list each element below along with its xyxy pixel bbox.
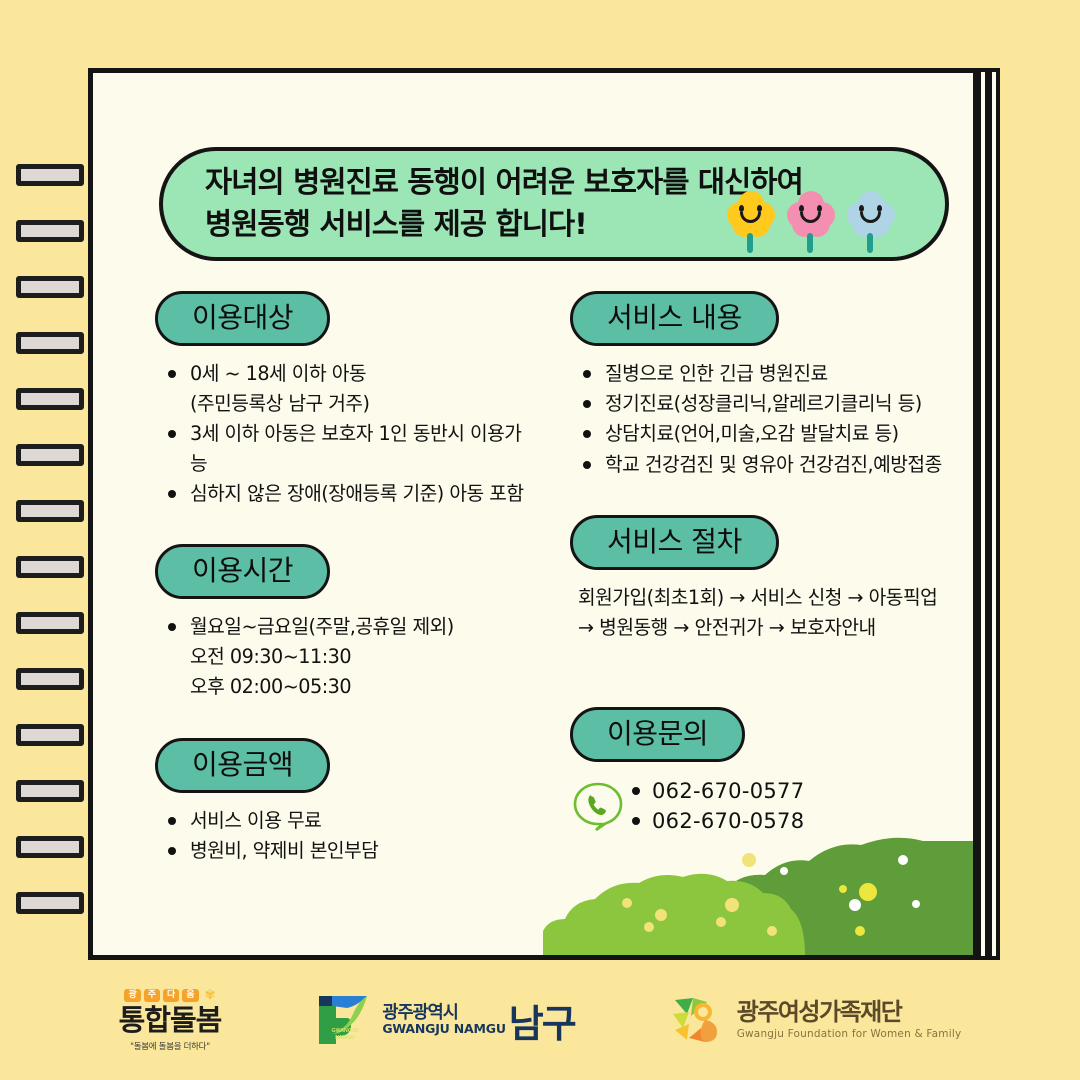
section-title-process: 서비스 절차 <box>570 515 779 570</box>
flower-yellow-icon <box>723 191 779 253</box>
content-columns: 이용대상 0세 ~ 18세 이하 아동 (주민등록상 남구 거주) 3세 이하 … <box>93 291 978 871</box>
section-body-hours: 월요일~금요일(주말,공휴일 제외) 오전 09:30~11:30 오후 02:… <box>155 612 538 702</box>
tag-box: 움 <box>182 989 198 1002</box>
foundation-korean-wordmark: 광주여성가족재단 <box>737 1000 962 1025</box>
notepad-page: 자녀의 병원진료 동행이 어려운 보호자를 대신하여 병원동행 서비스를 제공 … <box>88 68 1000 960</box>
section-title-target: 이용대상 <box>155 291 330 346</box>
page-edge-middle <box>977 68 989 960</box>
section-target: 이용대상 0세 ~ 18세 이하 아동 (주민등록상 남구 거주) 3세 이하 … <box>155 291 538 508</box>
list-item: 질병으로 인한 긴급 병원진료 <box>578 359 978 388</box>
phone-number-list: 062-670-0577 062-670-0578 <box>628 776 804 837</box>
grass-decoration <box>543 835 973 955</box>
notepad-front-page: 자녀의 병원진료 동행이 어려운 보호자를 대신하여 병원동행 서비스를 제공 … <box>88 68 978 960</box>
tonghap-dolbom-logo: 광 주 다 움 ✾ 통합돌봄 "돌봄에 돌봄을 더하다" <box>119 988 222 1052</box>
foundation-english-wordmark: Gwangju Foundation for Women & Family <box>737 1028 962 1040</box>
tag-box: 주 <box>144 989 160 1002</box>
list-item: (주민등록상 남구 거주) <box>163 389 538 418</box>
tonghap-dolbom-slogan: "돌봄에 돌봄을 더하다" <box>130 1040 210 1052</box>
spiral-ring <box>16 556 84 578</box>
list-item: 0세 ~ 18세 이하 아동 <box>163 359 538 388</box>
list-item: 심하지 않은 장애(장애등록 기준) 아동 포함 <box>163 479 538 508</box>
flower-trio <box>723 191 899 253</box>
right-column: 서비스 내용 질병으로 인한 긴급 병원진료 정기진료(성장클리닉,알레르기클리… <box>538 291 978 871</box>
spiral-ring <box>16 612 84 634</box>
gwangju-daum-tagline: 광 주 다 움 ✾ <box>124 988 215 1003</box>
foundation-emblem-icon <box>671 994 729 1046</box>
spiral-ring <box>16 276 84 298</box>
list-item: 정기진료(성장클리닉,알레르기클리닉 등) <box>578 389 978 418</box>
spiral-ring <box>16 444 84 466</box>
spiral-ring <box>16 836 84 858</box>
flower-blue-icon <box>843 191 899 253</box>
namgu-english-label: GWANGJU NAMGU <box>382 1023 505 1036</box>
section-title-service: 서비스 내용 <box>570 291 779 346</box>
phone-icon <box>572 780 624 832</box>
namgu-korean-label: 광주광역시 <box>382 1005 505 1023</box>
spiral-ring <box>16 500 84 522</box>
section-body-service: 질병으로 인한 긴급 병원진료 정기진료(성장클리닉,알레르기클리닉 등) 상담… <box>570 359 978 479</box>
spiral-ring <box>16 892 84 914</box>
section-title-hours: 이용시간 <box>155 544 330 599</box>
gwangju-women-family-foundation-logo: 광주여성가족재단 Gwangju Foundation for Women & … <box>671 994 962 1046</box>
section-fee: 이용금액 서비스 이용 무료 병원비, 약제비 본인부담 <box>155 738 538 865</box>
namgu-emblem-icon: GWANGJU NAMGU <box>317 992 373 1048</box>
spiral-ring <box>16 780 84 802</box>
section-body-process: 회원가입(최초1회) → 서비스 신청 → 아동픽업 → 병원동행 → 안전귀가… <box>570 583 978 643</box>
list-item: 오전 09:30~11:30 <box>163 642 538 671</box>
headline-banner: 자녀의 병원진료 동행이 어려운 보호자를 대신하여 병원동행 서비스를 제공 … <box>159 147 949 261</box>
flower-pink-icon <box>783 191 839 253</box>
headline-text: 자녀의 병원진료 동행이 어려운 보호자를 대신하여 병원동행 서비스를 제공 … <box>163 162 803 246</box>
butterfly-icon: ✾ <box>205 988 216 1003</box>
section-process: 서비스 절차 회원가입(최초1회) → 서비스 신청 → 아동픽업 → 병원동행… <box>570 515 978 643</box>
section-hours: 이용시간 월요일~금요일(주말,공휴일 제외) 오전 09:30~11:30 오… <box>155 544 538 702</box>
section-body-target: 0세 ~ 18세 이하 아동 (주민등록상 남구 거주) 3세 이하 아동은 보… <box>155 359 538 508</box>
spiral-ring <box>16 164 84 186</box>
left-column: 이용대상 0세 ~ 18세 이하 아동 (주민등록상 남구 거주) 3세 이하 … <box>93 291 538 871</box>
section-contact: 이용문의 062-670-0577 062-670-0578 <box>570 707 978 837</box>
spiral-ring <box>16 388 84 410</box>
phone-number: 062-670-0578 <box>628 806 804 837</box>
phone-number: 062-670-0577 <box>628 776 804 807</box>
list-item: 오후 02:00~05:30 <box>163 672 538 701</box>
tag-box: 광 <box>124 989 140 1002</box>
list-item: 3세 이하 아동은 보호자 1인 동반시 이용가능 <box>163 419 538 477</box>
contact-row: 062-670-0577 062-670-0578 <box>570 776 978 837</box>
spiral-ring <box>16 220 84 242</box>
spiral-ring <box>16 332 84 354</box>
svg-text:NAMGU: NAMGU <box>336 1035 356 1041</box>
footer-logos: 광 주 다 움 ✾ 통합돌봄 "돌봄에 돌봄을 더하다" GWANGJU NAM… <box>0 960 1080 1080</box>
list-item: 월요일~금요일(주말,공휴일 제외) <box>163 612 538 641</box>
svg-text:GWANGJU: GWANGJU <box>332 1028 359 1034</box>
gwangju-namgu-logo: GWANGJU NAMGU 광주광역시 GWANGJU NAMGU 남구 <box>317 992 574 1048</box>
list-item: 서비스 이용 무료 <box>163 806 538 835</box>
page-edge-back <box>988 68 1000 960</box>
list-item: 상담치료(언어,미술,오감 발달치료 등) <box>578 419 978 448</box>
section-title-fee: 이용금액 <box>155 738 330 793</box>
section-service: 서비스 내용 질병으로 인한 긴급 병원진료 정기진료(성장클리닉,알레르기클리… <box>570 291 978 479</box>
namgu-wordmark: 남구 <box>509 993 575 1048</box>
spiral-ring <box>16 668 84 690</box>
list-item: 병원비, 약제비 본인부담 <box>163 836 538 865</box>
section-body-fee: 서비스 이용 무료 병원비, 약제비 본인부담 <box>155 806 538 865</box>
section-title-contact: 이용문의 <box>570 707 745 762</box>
tonghap-dolbom-wordmark: 통합돌봄 <box>119 1006 222 1035</box>
list-item: 학교 건강검진 및 영유아 건강검진,예방접종 <box>578 450 978 479</box>
tag-box: 다 <box>163 989 179 1002</box>
spiral-ring <box>16 724 84 746</box>
